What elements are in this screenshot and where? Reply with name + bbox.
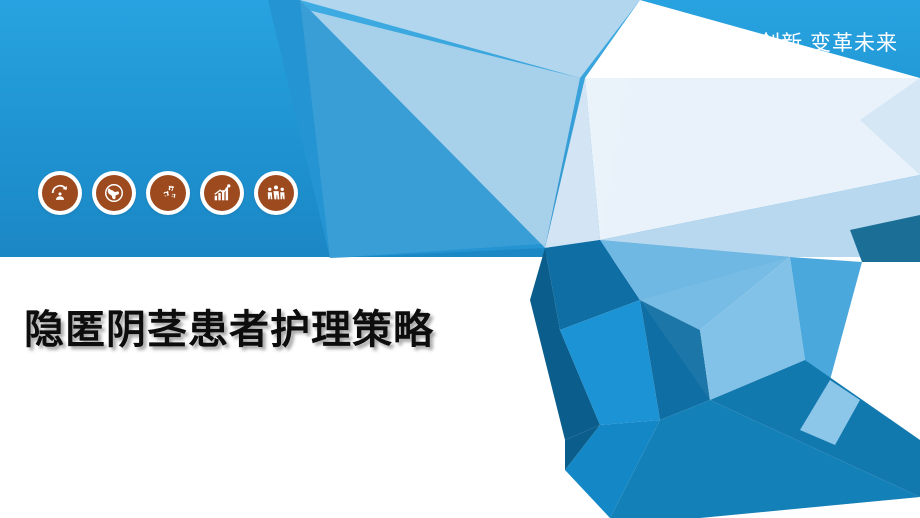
recycle-person-icon <box>42 175 78 211</box>
icon-badge-gears[interactable] <box>146 171 190 215</box>
icon-badge-recycle-person[interactable] <box>38 171 82 215</box>
people-group-icon <box>258 175 294 211</box>
icon-row <box>38 171 298 215</box>
globe-icon <box>96 175 132 211</box>
slide-canvas: 数智创新 变革未来 <box>0 0 920 518</box>
bar-chart-growth-icon <box>204 175 240 211</box>
poly-overlay-sheen-a <box>300 0 640 258</box>
gears-icon <box>150 175 186 211</box>
tagline: 数智创新 变革未来 <box>715 27 898 57</box>
icon-badge-people-group[interactable] <box>254 171 298 215</box>
icon-badge-globe[interactable] <box>92 171 136 215</box>
page-title: 隐匿阴茎患者护理策略 <box>24 297 434 355</box>
low-poly-artwork <box>0 0 920 518</box>
icon-badge-bar-chart-growth[interactable] <box>200 171 244 215</box>
